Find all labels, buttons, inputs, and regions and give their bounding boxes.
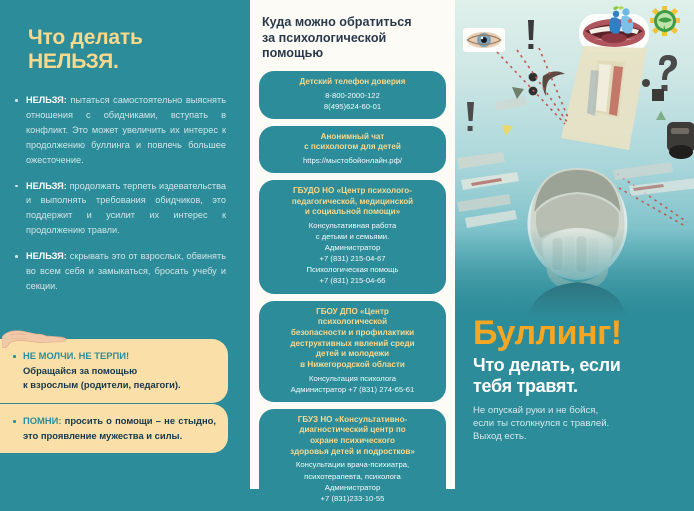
callout-accent: ПОМНИ: xyxy=(23,415,61,426)
bullet-lead: НЕЛЬЗЯ: xyxy=(26,95,67,105)
contact-line: Психологическая помощь xyxy=(268,264,437,275)
contact-line: психотерапевта, психолога xyxy=(268,471,437,482)
contact-line: Администратор xyxy=(268,482,437,493)
contact-title: Анонимный чат с психологом для детей xyxy=(268,132,437,153)
contact-title-line: здоровья детей и подростков» xyxy=(268,447,437,458)
contact-title: ГБУДО НО «Центр психолого- педагогическо… xyxy=(268,186,437,218)
callout-accent: НЕ МОЛЧИ. НЕ ТЕРПИ! xyxy=(23,350,129,361)
right-panel-caption: Не опускай руки и не бойся, если ты стол… xyxy=(473,405,684,444)
contact-line: 8-800-2000-122 xyxy=(268,90,437,101)
contact-title: ГБОУ ДПО «Центр психологической безопасн… xyxy=(268,307,437,371)
caption-line3: Выход есть. xyxy=(473,431,684,444)
square-decoration xyxy=(651,88,667,104)
dot-decoration xyxy=(641,78,651,88)
contact-card[interactable]: ГБОУ ДПО «Центр психологической безопасн… xyxy=(259,301,446,402)
exclamation-icon xyxy=(525,18,537,52)
pointing-hand-icon xyxy=(2,326,74,348)
dont-list: НЕЛЬЗЯ: пытаться самостоятельно выяснять… xyxy=(12,93,226,294)
list-item: НЕЛЬЗЯ: продолжать терпеть издевательств… xyxy=(12,179,226,239)
people-logo-icon xyxy=(609,6,633,33)
left-panel: Что делать НЕЛЬЗЯ. НЕЛЬЗЯ: пытаться само… xyxy=(0,0,240,489)
callout-card-speak-up: НЕ МОЛЧИ. НЕ ТЕРПИ! Обращайся за помощью… xyxy=(0,339,228,403)
exclamation-icon xyxy=(464,100,478,134)
contact-title-line: охране психического xyxy=(268,436,437,447)
contact-title-line: диагностический центр по xyxy=(268,425,437,436)
subheadline-line1: Что делать, если xyxy=(473,355,684,376)
caption-line1: Не опускай руки и не бойся, xyxy=(473,405,684,418)
bullet-text: пытаться самостоятельно выяснять отношен… xyxy=(26,95,226,165)
contact-line: 8(495)624-60-01 xyxy=(268,101,437,112)
contact-title-line: в Нижегородской области xyxy=(268,360,437,371)
triangle-decoration xyxy=(511,86,525,100)
mid-title-line3: помощью xyxy=(262,46,446,62)
list-item: НЕ МОЛЧИ. НЕ ТЕРПИ! Обращайся за помощью… xyxy=(12,349,216,393)
contact-link[interactable]: https://мыстобойонлайн.рф/ xyxy=(268,155,437,166)
contact-title-line: Анонимный чат xyxy=(268,132,437,143)
caption-line2: если ты столкнулся с травлей. xyxy=(473,418,684,431)
education-sun-logo-icon xyxy=(650,6,680,36)
contact-title: ГБУЗ НО «Консультативно- диагностический… xyxy=(268,415,437,458)
subheadline-line2: тебя травят. xyxy=(473,376,684,397)
right-panel-text: Буллинг! Что делать, если тебя травят. Н… xyxy=(473,316,684,444)
contact-title-line: психологической xyxy=(268,317,437,328)
callout-line2: Обращайся за помощью xyxy=(23,365,137,376)
contact-title-line: ГБУЗ НО «Консультативно- xyxy=(268,415,437,426)
contact-line: Консультация психолога xyxy=(268,373,437,384)
contact-title-line: детей и молодежи xyxy=(268,349,437,360)
contact-title-line: деструктивных явлений среди xyxy=(268,339,437,350)
list-item: НЕЛЬЗЯ: пытаться самостоятельно выяснять… xyxy=(12,93,226,168)
contact-title-line: безопасности и профилактики xyxy=(268,328,437,339)
contact-card[interactable]: ГБУЗ НО «Консультативно- диагностический… xyxy=(259,409,446,511)
right-panel: Буллинг! Что делать, если тебя травят. Н… xyxy=(455,0,694,489)
callout-list: ПОМНИ: просить о помощи – не стыдно, это… xyxy=(12,414,216,443)
mid-title-line2: за психологической xyxy=(262,31,446,47)
contact-title-line: с психологом для детей xyxy=(268,142,437,153)
left-title-line1: Что делать xyxy=(28,26,143,49)
photo-fade-overlay xyxy=(455,228,694,318)
partner-logos xyxy=(602,4,688,38)
callout-line3: к взрослым (родители, педагоги). xyxy=(23,379,181,390)
left-panel-title: Что делать НЕЛЬЗЯ. xyxy=(28,26,240,73)
mid-title-line1: Куда можно обратиться xyxy=(262,15,446,31)
middle-panel: Куда можно обратиться за психологической… xyxy=(250,0,455,489)
megaphone-scrap xyxy=(667,118,694,166)
brochure: Что делать НЕЛЬЗЯ. НЕЛЬЗЯ: пытаться само… xyxy=(0,0,694,489)
bullet-lead: НЕЛЬЗЯ: xyxy=(26,251,67,261)
column-divider xyxy=(240,0,250,489)
contact-card[interactable]: Детский телефон доверия 8-800-2000-122 8… xyxy=(259,71,446,119)
contact-title-line: Детский телефон доверия xyxy=(268,77,437,88)
contact-line: Консультативная работа xyxy=(268,220,437,231)
contact-line: Консультации врача-психиатра, xyxy=(268,459,437,470)
subheadline: Что делать, если тебя травят. xyxy=(473,355,684,396)
contact-card[interactable]: ГБУДО НО «Центр психолого- педагогическо… xyxy=(259,180,446,293)
bullet-lead: НЕЛЬЗЯ: xyxy=(26,181,67,191)
contact-title-line: ГБОУ ДПО «Центр xyxy=(268,307,437,318)
contact-card[interactable]: Анонимный чат с психологом для детей htt… xyxy=(259,126,446,173)
triangle-decoration xyxy=(655,110,667,122)
contact-line: с детьми и семьями. xyxy=(268,231,437,242)
contact-title-line: и социальной помощи» xyxy=(268,207,437,218)
contact-line: Администратор xyxy=(268,242,437,253)
contact-phone[interactable]: +7 (831) 215-04-67 xyxy=(268,253,437,264)
triangle-decoration xyxy=(501,124,514,137)
contact-phone[interactable]: +7 (831) 215-04-66 xyxy=(268,275,437,286)
collage-illustration xyxy=(455,0,694,318)
list-item: НЕЛЬЗЯ: скрывать это от взрослых, обвиня… xyxy=(12,249,226,294)
contact-title-line: ГБУДО НО «Центр психолого- xyxy=(268,186,437,197)
contact-phone[interactable]: Администратор +7 (831) 274-65-61 xyxy=(268,384,437,395)
list-item: ПОМНИ: просить о помощи – не стыдно, это… xyxy=(12,414,216,443)
contact-title-line: педагогической, медицинской xyxy=(268,197,437,208)
left-title-line2: НЕЛЬЗЯ. xyxy=(28,50,240,74)
contact-phone[interactable]: +7 (831)233-10-55 xyxy=(268,493,437,504)
contact-title: Детский телефон доверия xyxy=(268,77,437,88)
headline-bullying: Буллинг! xyxy=(473,316,684,350)
callout-list: НЕ МОЛЧИ. НЕ ТЕРПИ! Обращайся за помощью… xyxy=(12,349,216,393)
middle-panel-title: Куда можно обратиться за психологической… xyxy=(262,15,446,62)
callout-card-remember: ПОМНИ: просить о помощи – не стыдно, это… xyxy=(0,404,228,453)
